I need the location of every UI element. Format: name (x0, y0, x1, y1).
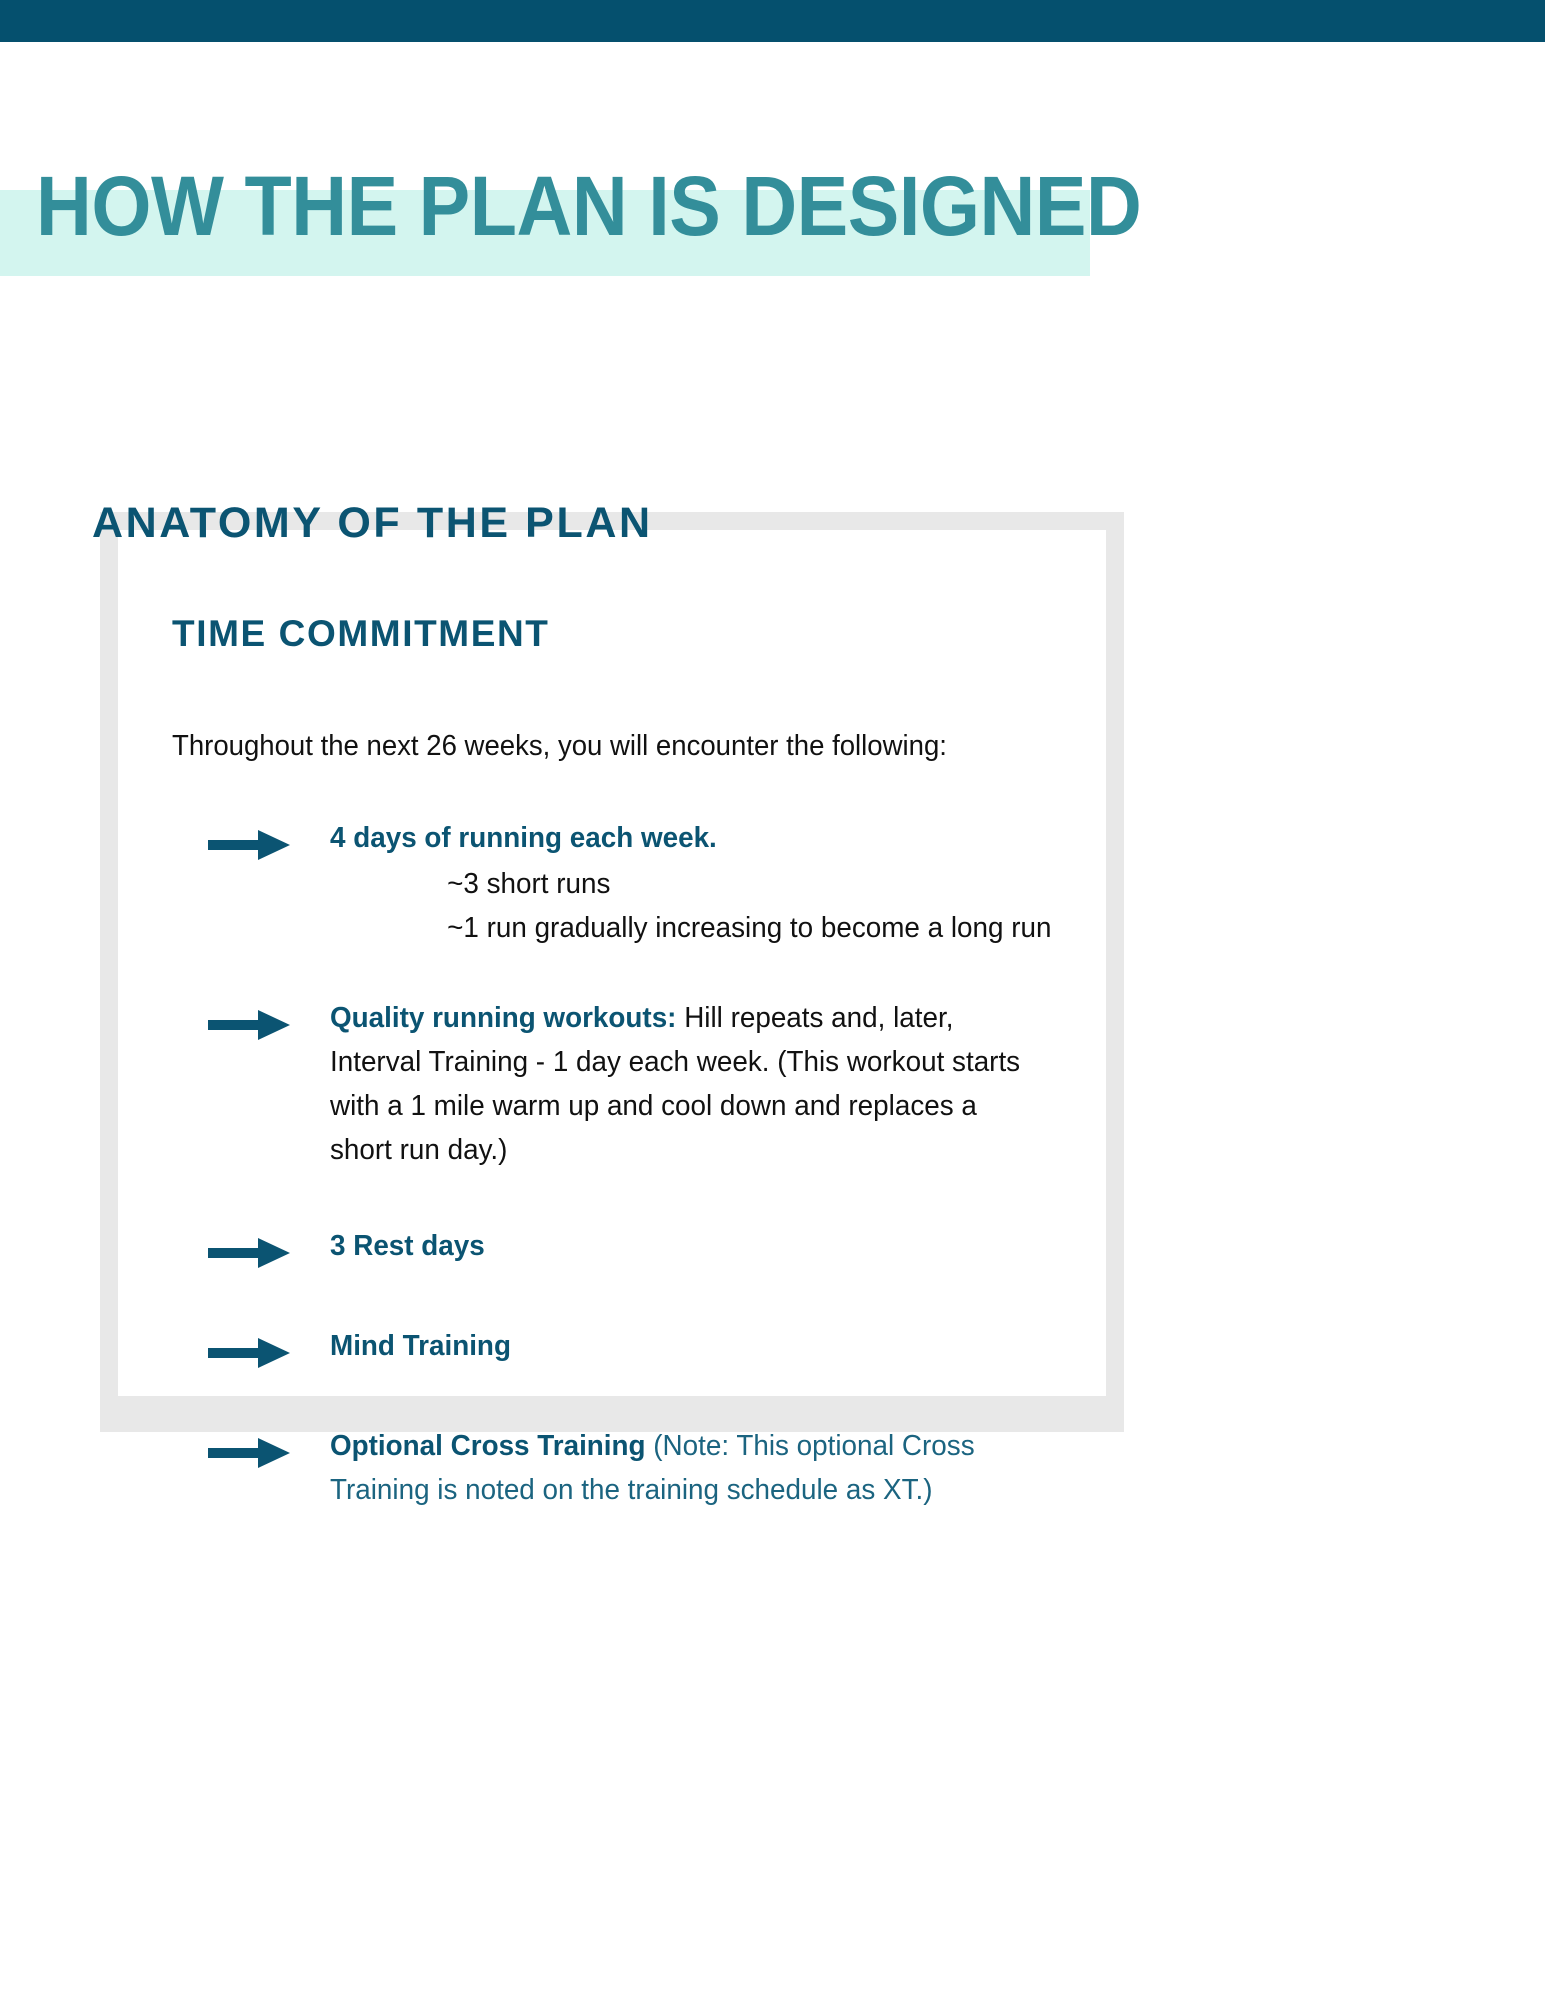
intro-paragraph: Throughout the next 26 weeks, you will e… (172, 728, 1008, 764)
list-item-text: Optional Cross Training (Note: This opti… (330, 1424, 1023, 1512)
arrow-right-icon (208, 1338, 290, 1368)
list-item-lead: 3 Rest days (330, 1230, 485, 1262)
sub-heading-time-commitment: TIME COMMITMENT (172, 612, 1052, 656)
bullet-list: 4 days of running each week. ~3 short ru… (172, 816, 1052, 1512)
panel-content: TIME COMMITMENT Throughout the next 26 w… (172, 612, 1052, 1512)
list-item-lead: 4 days of running each week. (330, 822, 717, 854)
list-item: Optional Cross Training (Note: This opti… (172, 1424, 1052, 1512)
arrow-right-icon (208, 830, 290, 860)
list-item-text: 4 days of running each week. (330, 816, 1023, 860)
arrow-right-icon (208, 1238, 290, 1268)
list-item: Mind Training (172, 1324, 1052, 1368)
arrow-right-icon (208, 1010, 290, 1040)
section-heading-anatomy: ANATOMY OF THE PLAN (92, 498, 653, 548)
arrow-right-icon (208, 1438, 290, 1468)
list-item-text: 3 Rest days (330, 1224, 1023, 1268)
list-item-lead: Quality running workouts: (330, 1002, 676, 1034)
list-item-lead: Optional Cross Training (330, 1430, 646, 1462)
list-item-text: Mind Training (330, 1324, 1023, 1368)
list-item: 4 days of running each week. ~3 short ru… (172, 816, 1052, 950)
list-item-text: Quality running workouts: Hill repeats a… (330, 996, 1023, 1172)
list-item-sublines: ~3 short runs ~1 run gradually increasin… (330, 862, 1023, 950)
list-item-lead: Mind Training (330, 1330, 511, 1362)
list-item-subline: ~1 run gradually increasing to become a … (447, 906, 1023, 950)
list-item: Quality running workouts: Hill repeats a… (172, 996, 1052, 1172)
list-item-subline: ~3 short runs (447, 862, 1023, 906)
page-title: HOW THE PLAN IS DESIGNED (36, 160, 1324, 252)
top-accent-bar (0, 0, 1545, 42)
list-item: 3 Rest days (172, 1224, 1052, 1268)
